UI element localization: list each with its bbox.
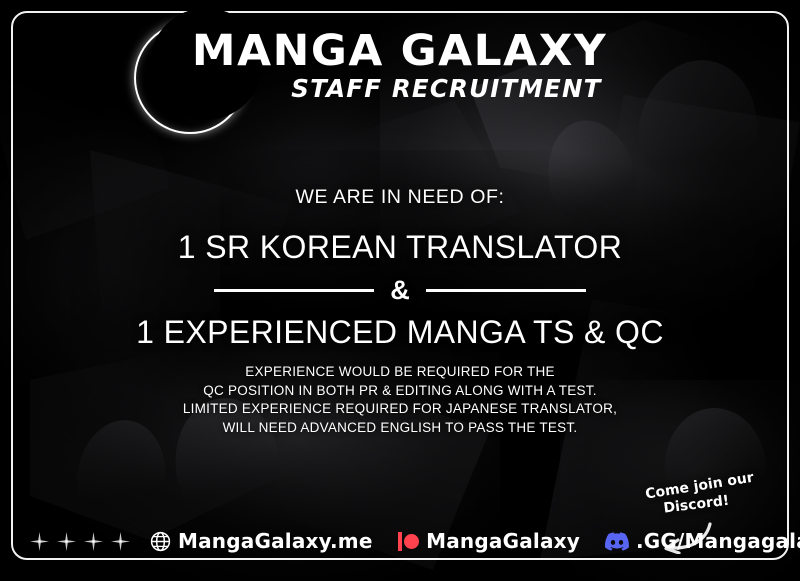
poster-body: WE ARE IN NEED OF: 1 SR KOREAN TRANSLATO… [0,186,800,438]
sparkle-star-icon [57,532,76,551]
social-links: MangaGalaxy.me MangaGalaxy .GG/Mang [150,529,800,553]
poster-header: MANGA GALAXY STAFF RECRUITMENT [0,30,800,103]
intro-text: WE ARE IN NEED OF: [0,186,800,209]
patreon-link[interactable]: MangaGalaxy [398,529,580,553]
brand-title: MANGA GALAXY [192,30,607,73]
discord-link-label: .GG/Mangagalaxy [636,529,800,553]
note-line: QC POSITION IN BOTH PR & EDITING ALONG W… [0,382,800,401]
brand-subtitle: STAFF RECRUITMENT [196,74,603,103]
ampersand-text: & [390,277,410,304]
discord-icon [605,532,629,551]
poster-footer: MangaGalaxy.me MangaGalaxy .GG/Mang [13,519,787,563]
separator-row: & [0,277,800,304]
discord-link[interactable]: .GG/Mangagalaxy [605,529,800,553]
divider-right [426,289,586,292]
recruitment-poster: MANGA GALAXY STAFF RECRUITMENT WE ARE IN… [0,0,800,581]
role-two-text: 1 EXPERIENCED MANGA TS & QC [0,314,800,351]
patreon-link-label: MangaGalaxy [426,529,580,553]
patreon-icon [398,531,420,551]
brand-lockup: MANGA GALAXY STAFF RECRUITMENT [196,30,603,103]
note-line: WILL NEED ADVANCED ENGLISH TO PASS THE T… [0,419,800,438]
divider-left [214,289,374,292]
note-line: EXPERIENCE WOULD BE REQUIRED FOR THE [0,363,800,382]
role-one-text: 1 SR KOREAN TRANSLATOR [0,229,800,266]
website-link[interactable]: MangaGalaxy.me [150,529,373,553]
sparkle-star-icon [84,532,103,551]
requirements-note: EXPERIENCE WOULD BE REQUIRED FOR THE QC … [0,363,800,438]
note-line: LIMITED EXPERIENCE REQUIRED FOR JAPANESE… [0,400,800,419]
sparkle-decorations [30,532,130,551]
globe-icon [150,531,171,552]
sparkle-star-icon [30,532,49,551]
sparkle-star-icon [111,532,130,551]
website-link-label: MangaGalaxy.me [178,529,373,553]
